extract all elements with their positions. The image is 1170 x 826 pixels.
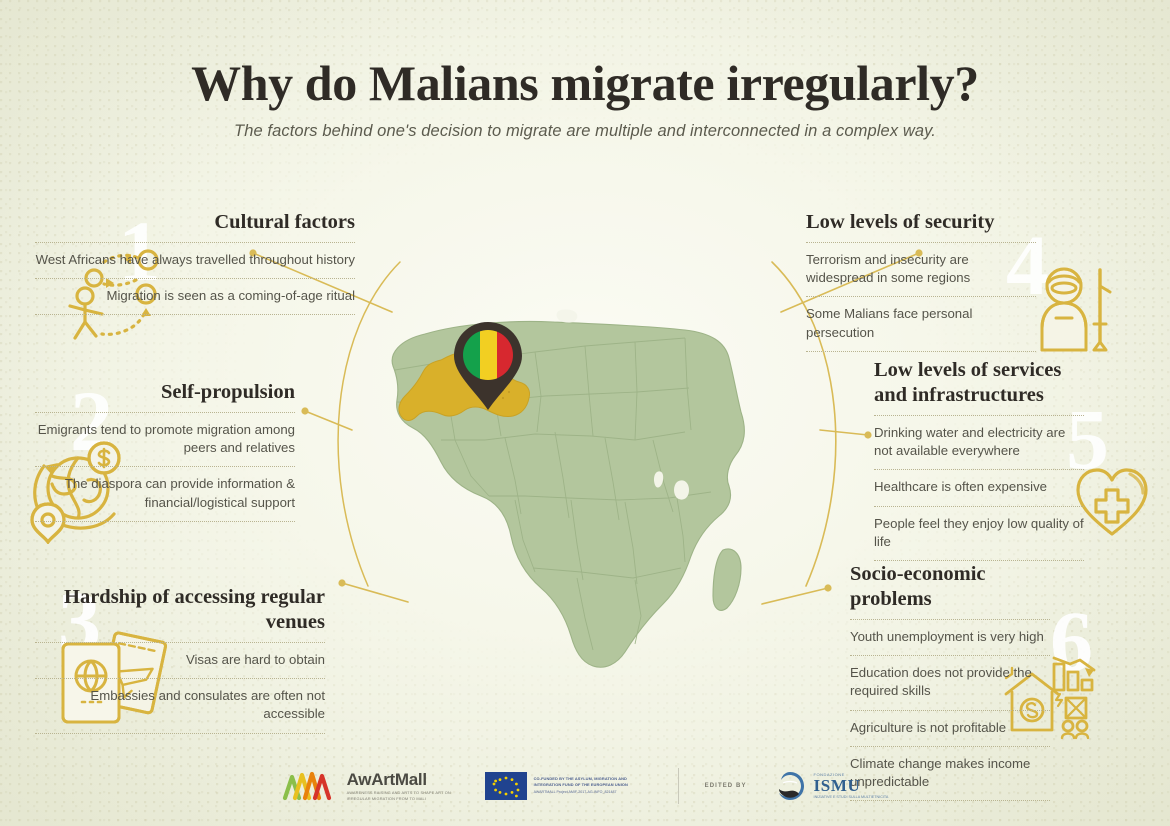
list-item: Agriculture is not profitable bbox=[850, 710, 1050, 746]
list-item: People feel they enjoy low quality of li… bbox=[874, 506, 1084, 561]
list-item: Youth unemployment is very high bbox=[850, 619, 1050, 655]
awartmall-tagline: AWARENESS RAISING AND ARTS TO SHAPE ART … bbox=[347, 790, 459, 802]
fact-list: Terrorism and insecurity are widespread … bbox=[806, 242, 1036, 352]
footer-divider bbox=[678, 768, 679, 804]
list-item: Migration is seen as a coming-of-age rit… bbox=[35, 278, 355, 315]
section-title: Hardship of accessing regular venues bbox=[35, 585, 325, 635]
section-title: Low levels of services and infrastructur… bbox=[874, 358, 1084, 408]
section-title: Socio-economic problems bbox=[850, 562, 1050, 612]
edited-by-label: EDITED BY bbox=[705, 783, 747, 789]
section-title: Self-propulsion bbox=[35, 380, 295, 405]
ismu-name: ISMU bbox=[814, 777, 889, 794]
eu-project-ref: AWARTMALL Project AMIF-2017-AG-INFO_8214… bbox=[534, 790, 652, 795]
list-item: Education does not provide the required … bbox=[850, 655, 1050, 709]
section-6: Socio-economic problems Youth unemployme… bbox=[850, 562, 1050, 801]
fact-list: Visas are hard to obtain Embassies and c… bbox=[35, 642, 325, 734]
awartmall-name: AwArtMall bbox=[347, 771, 459, 788]
list-item: Embassies and consulates are often not a… bbox=[35, 678, 325, 733]
fact-list: West Africans have always travelled thro… bbox=[35, 242, 355, 315]
list-item: Drinking water and electricity are not a… bbox=[874, 415, 1084, 469]
infographic-poster: Why do Malians migrate irregularly? The … bbox=[0, 0, 1170, 826]
page-subtitle: The factors behind one's decision to mig… bbox=[0, 122, 1170, 141]
awartmall-waves-logo bbox=[282, 771, 340, 801]
european-union-flag bbox=[485, 772, 527, 800]
section-2: Self-propulsion Emigrants tend to promot… bbox=[35, 380, 295, 522]
section-3: Hardship of accessing regular venues Vis… bbox=[35, 585, 325, 734]
list-item: Healthcare is often expensive bbox=[874, 469, 1084, 505]
armed-soldier-icon bbox=[1030, 262, 1122, 354]
list-item: Visas are hard to obtain bbox=[35, 642, 325, 678]
ismu-sub-line: INIZIATIVE E STUDI SULLA MULTIETNICITA bbox=[814, 795, 889, 800]
list-item: Emigrants tend to promote migration amon… bbox=[35, 412, 295, 466]
awartmall-logo: AwArtMall AWARENESS RAISING AND ARTS TO … bbox=[282, 771, 459, 802]
fact-list: Drinking water and electricity are not a… bbox=[874, 415, 1084, 561]
section-1: Cultural factors West Africans have alwa… bbox=[35, 210, 355, 315]
list-item: The diaspora can provide information & f… bbox=[35, 466, 295, 521]
ismu-globe-logo bbox=[773, 769, 807, 803]
list-item: Terrorism and insecurity are widespread … bbox=[806, 242, 1036, 296]
section-4: Low levels of security Terrorism and ins… bbox=[806, 210, 1036, 352]
list-item: Some Malians face personal persecution bbox=[806, 296, 1036, 351]
africa-map bbox=[385, 300, 785, 680]
section-5: Low levels of services and infrastructur… bbox=[874, 358, 1084, 561]
eu-funding-text: CO-FUNDED BY THE ASYLUM, MIGRATION AND I… bbox=[534, 776, 652, 788]
eu-funding-logo: CO-FUNDED BY THE ASYLUM, MIGRATION AND I… bbox=[485, 772, 652, 800]
section-title: Low levels of security bbox=[806, 210, 1036, 235]
section-title: Cultural factors bbox=[35, 210, 355, 235]
heart-medical-cross-icon bbox=[1072, 462, 1154, 540]
fact-list: Emigrants tend to promote migration amon… bbox=[35, 412, 295, 522]
page-title: Why do Malians migrate irregularly? bbox=[0, 56, 1170, 110]
header: Why do Malians migrate irregularly? The … bbox=[0, 56, 1170, 141]
list-item: West Africans have always travelled thro… bbox=[35, 242, 355, 278]
footer: AwArtMall AWARENESS RAISING AND ARTS TO … bbox=[0, 768, 1170, 804]
ismu-logo: FONDAZIONE ISMU INIZIATIVE E STUDI SULLA… bbox=[773, 769, 889, 803]
